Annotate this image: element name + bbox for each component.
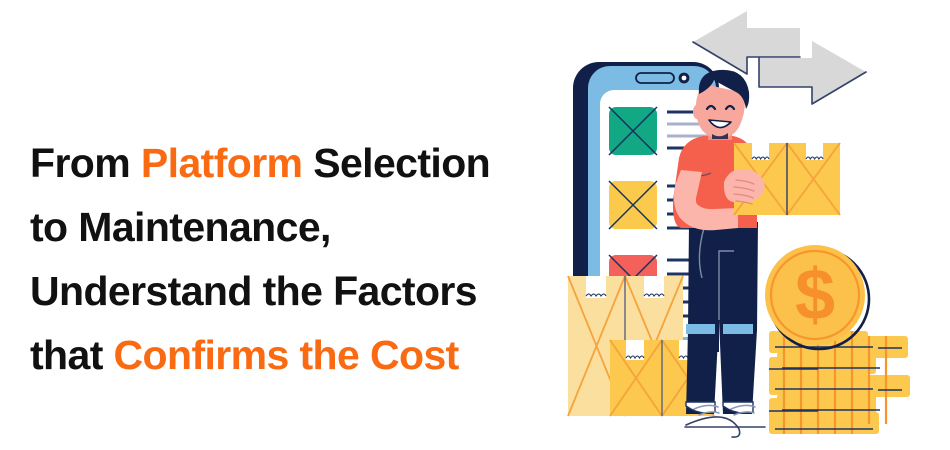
carried-box xyxy=(734,143,840,215)
shoes xyxy=(686,402,753,413)
checklist-square-yellow xyxy=(609,181,657,229)
camera-icon xyxy=(679,73,690,84)
screen-text-lines xyxy=(667,112,709,316)
headline-line-1: From Platform Selection xyxy=(30,131,570,195)
head xyxy=(693,70,749,140)
headline-line-3: Understand the Factors xyxy=(30,259,570,323)
ground-line xyxy=(686,417,740,437)
money-stack xyxy=(769,331,910,434)
headline-text-plain: Understand the Factors xyxy=(30,268,477,314)
hand xyxy=(724,169,765,204)
headline-text-plain: From xyxy=(30,140,141,186)
checklist-square-red xyxy=(609,255,657,303)
headline-text-plain: that xyxy=(30,332,114,378)
trousers xyxy=(686,222,758,414)
smartphone xyxy=(573,62,719,352)
headline-text-accent: Confirms the Cost xyxy=(114,332,459,378)
headline-line-2: to Maintenance, xyxy=(30,195,570,259)
svg-text:$: $ xyxy=(795,255,835,335)
headline-text-plain: to Maintenance, xyxy=(30,204,331,250)
speaker-slot-icon xyxy=(636,73,674,83)
ground-box-small xyxy=(610,340,714,416)
delivery-person xyxy=(673,70,765,437)
headline-text-plain: Selection xyxy=(302,140,490,186)
dollar-coin: $ xyxy=(765,245,869,349)
arms xyxy=(674,170,738,230)
tshirt xyxy=(673,136,757,228)
arrow-right-icon xyxy=(759,41,866,104)
page-title: From Platform Selection to Maintenance, … xyxy=(30,131,570,387)
dollar-sign-icon: $ xyxy=(795,255,835,335)
motion-lines xyxy=(694,405,755,415)
checklist-square-teal xyxy=(609,107,657,155)
headline-text-accent: Platform xyxy=(141,140,303,186)
ground-box-large xyxy=(568,276,683,416)
arrow-left-icon xyxy=(693,11,800,74)
promo-banner: From Platform Selection to Maintenance, … xyxy=(0,0,950,450)
headline-line-4: that Confirms the Cost xyxy=(30,323,570,387)
